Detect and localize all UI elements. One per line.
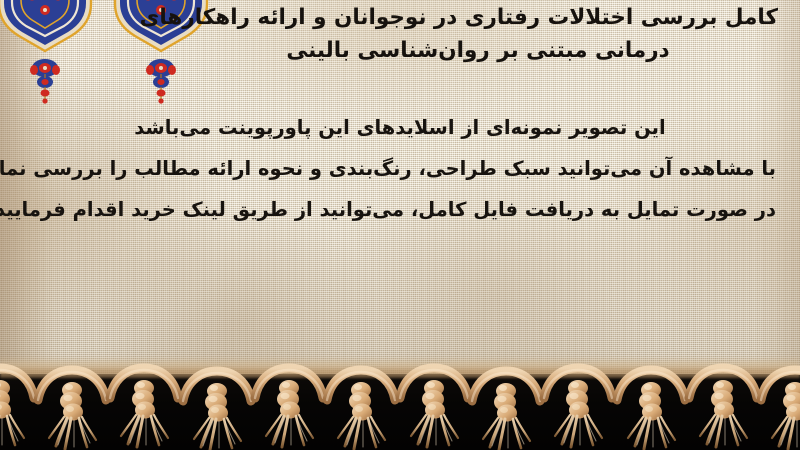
slide-canvas: کامل بررسی اختلالات رفتاری در نوجوانان و… — [0, 0, 800, 450]
slide-title: کامل بررسی اختلالات رفتاری در نوجوانان و… — [178, 2, 778, 67]
slide-body: این تصویر نمونه‌ای از اسلایدهای این پاور… — [24, 108, 776, 231]
body-line-1: این تصویر نمونه‌ای از اسلایدهای این پاور… — [24, 108, 776, 149]
body-line-2: با مشاهده آن می‌توانید سبک طراحی، رنگ‌بن… — [24, 149, 776, 190]
body-line-3: در صورت تمایل به دریافت فایل کامل، می‌تو… — [24, 190, 776, 231]
title-line-2: درمانی مبتنی بر روان‌شناسی بالینی — [178, 35, 778, 68]
footer-black-band — [0, 374, 800, 450]
title-line-1: کامل بررسی اختلالات رفتاری در نوجوانان و… — [178, 2, 778, 35]
